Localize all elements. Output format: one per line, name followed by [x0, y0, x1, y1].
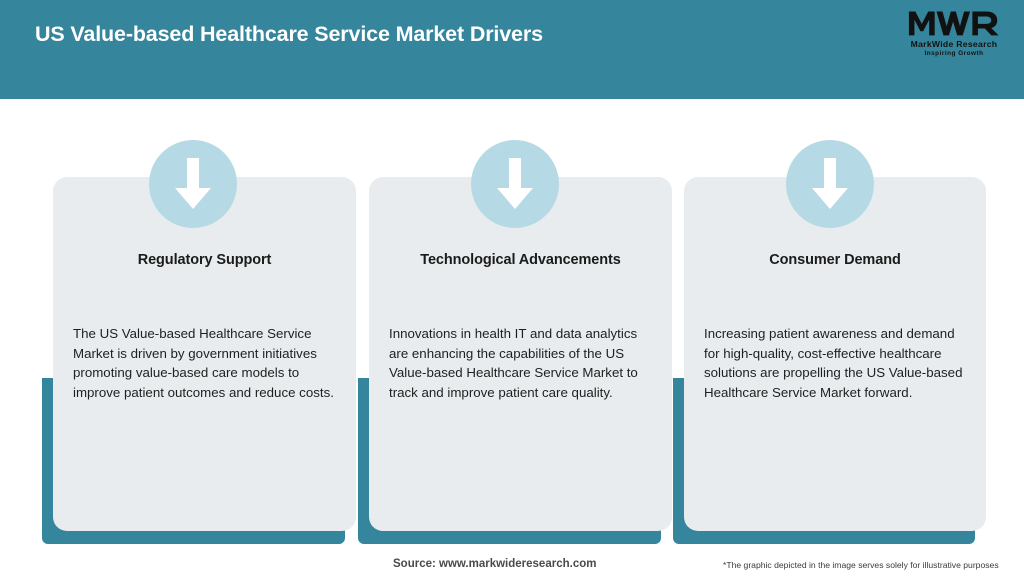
driver-card-2: Technological Advancements Innovations i… [358, 177, 661, 543]
driver-card-3: Consumer Demand Increasing patient aware… [673, 177, 975, 543]
source-label: Source: www.markwideresearch.com [393, 558, 596, 570]
mwr-logo-icon [908, 8, 1000, 38]
down-arrow-icon [786, 140, 874, 228]
card-heading: Consumer Demand [684, 252, 986, 268]
logo-tagline: Inspiring Growth [924, 50, 983, 57]
page-title: US Value-based Healthcare Service Market… [35, 22, 543, 47]
card-body-text: The US Value-based Healthcare Service Ma… [73, 324, 338, 402]
down-arrow-icon [149, 140, 237, 228]
logo-company-name: MarkWide Research [911, 39, 998, 49]
driver-card-1: Regulatory Support The US Value-based He… [42, 177, 345, 543]
card-body-text: Innovations in health IT and data analyt… [389, 324, 654, 402]
card-surface: Consumer Demand Increasing patient aware… [684, 177, 986, 531]
header-band [0, 0, 1024, 99]
card-heading: Regulatory Support [53, 252, 356, 268]
card-body-text: Increasing patient awareness and demand … [704, 324, 968, 402]
card-surface: Regulatory Support The US Value-based He… [53, 177, 356, 531]
card-surface: Technological Advancements Innovations i… [369, 177, 672, 531]
card-heading: Technological Advancements [369, 252, 672, 268]
down-arrow-glyph [173, 158, 213, 210]
brand-logo: MarkWide Research Inspiring Growth [900, 8, 1008, 62]
down-arrow-glyph [810, 158, 850, 210]
disclaimer-label: *The graphic depicted in the image serve… [723, 560, 999, 570]
down-arrow-icon [471, 140, 559, 228]
down-arrow-glyph [495, 158, 535, 210]
